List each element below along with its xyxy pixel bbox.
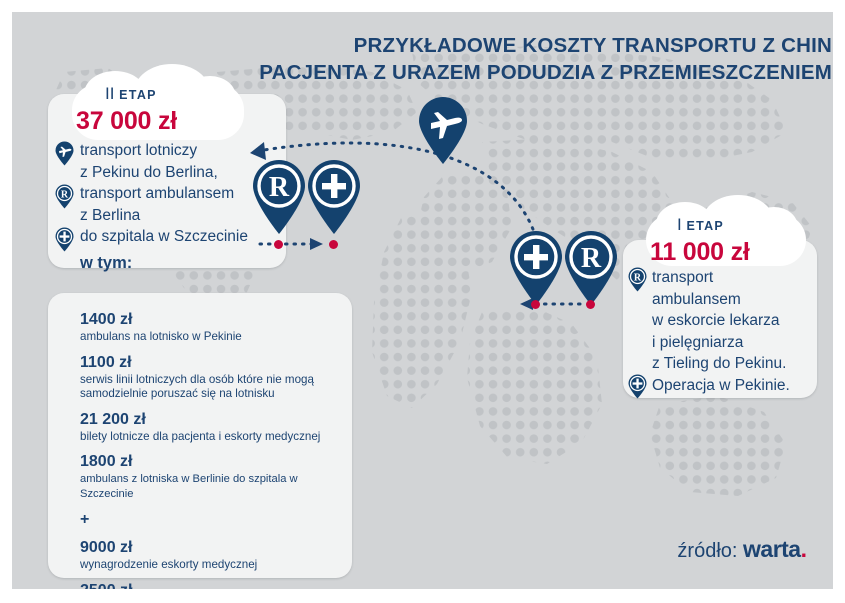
ambulance-pin-icon: R (627, 266, 648, 292)
city-dot-beijing (531, 300, 540, 309)
ambulance-pin-marker-berlin: R (248, 155, 310, 240)
stage-2-badge-roman: II (105, 84, 114, 103)
stage-2-amount: 37 000 zł (76, 107, 177, 136)
city-dot-szczecin (329, 240, 338, 249)
hospital-pin-marker-beijing (505, 226, 567, 311)
stage-1-badge-label: I ETAP (677, 215, 724, 235)
infographic-root: R (0, 0, 845, 603)
plane-pin-icon (54, 140, 75, 166)
hospital-pin-marker-szczecin (303, 155, 365, 240)
svg-text:R: R (634, 272, 642, 283)
svg-text:R: R (61, 189, 69, 200)
svg-text:R: R (269, 172, 290, 203)
city-dot-berlin (274, 240, 283, 249)
svg-text:R: R (581, 243, 602, 274)
stage-2-badge-label: II ETAP (105, 84, 157, 104)
ambulance-pin-icon: R (54, 183, 75, 209)
stage-1-amount: 11 000 zł (650, 238, 750, 267)
city-dot-tieling (586, 300, 595, 309)
ambulance-pin-marker-tieling: R (560, 226, 622, 311)
stage-1-badge-word: ETAP (686, 219, 724, 233)
stage-2-badge-word: ETAP (119, 88, 157, 102)
stage-1-badge-roman: I (677, 215, 682, 234)
hospital-pin-icon (627, 373, 648, 399)
plane-pin-marker (415, 93, 471, 170)
map-canvas: R (12, 12, 833, 589)
hospital-pin-icon (54, 226, 75, 252)
